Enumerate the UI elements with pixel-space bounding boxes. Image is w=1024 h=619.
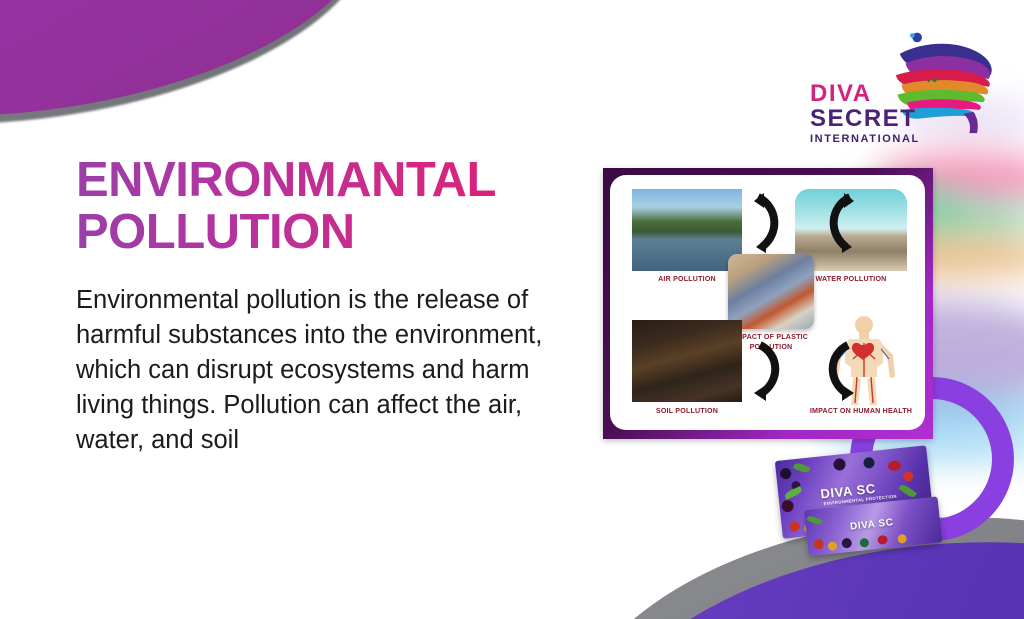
infographic-card: AIR POLLUTION WATER POLLUTION IMPACT OF … xyxy=(610,175,925,430)
arrow-soil-to-plastic-icon xyxy=(752,341,786,401)
page-title: ENVIRONMANTAL POLLUTION xyxy=(76,155,596,259)
brand-logo: DIVA SECRET INTERNATIONAL xyxy=(808,24,1008,142)
air-pollution-caption: AIR POLLUTION xyxy=(632,275,742,285)
product-packaging: DIVA SC ENVIRONMENTAL PROTECTION DIVA SC xyxy=(775,443,955,568)
product-sachet-label: DIVA SC xyxy=(850,517,895,533)
arrow-air-to-plastic-icon xyxy=(752,191,786,253)
logo-wordmark: DIVA SECRET INTERNATIONAL xyxy=(810,82,920,145)
air-pollution-photo xyxy=(632,189,742,271)
body-paragraph: Environmental pollution is the release o… xyxy=(76,283,576,458)
page-title-line-1: ENVIRONMANTAL xyxy=(76,155,596,207)
plastic-pollution-photo xyxy=(728,254,814,329)
logo-line-diva: DIVA xyxy=(810,82,920,106)
logo-line-secret: SECRET xyxy=(810,107,920,131)
arrow-plastic-to-health-icon xyxy=(822,341,856,401)
soil-pollution-caption: SOIL POLLUTION xyxy=(632,407,742,417)
logo-line-international: INTERNATIONAL xyxy=(810,134,920,145)
page-title-line-2: POLLUTION xyxy=(76,207,596,259)
pollution-infographic: AIR POLLUTION WATER POLLUTION IMPACT OF … xyxy=(603,168,933,439)
arrow-plastic-to-water-icon xyxy=(822,191,856,253)
human-health-caption: IMPACT ON HUMAN HEALTH xyxy=(803,407,919,417)
slide-canvas: DIVA SECRET INTERNATIONAL ENVIRONMANTAL … xyxy=(0,0,1024,619)
soil-pollution-photo xyxy=(632,320,742,402)
